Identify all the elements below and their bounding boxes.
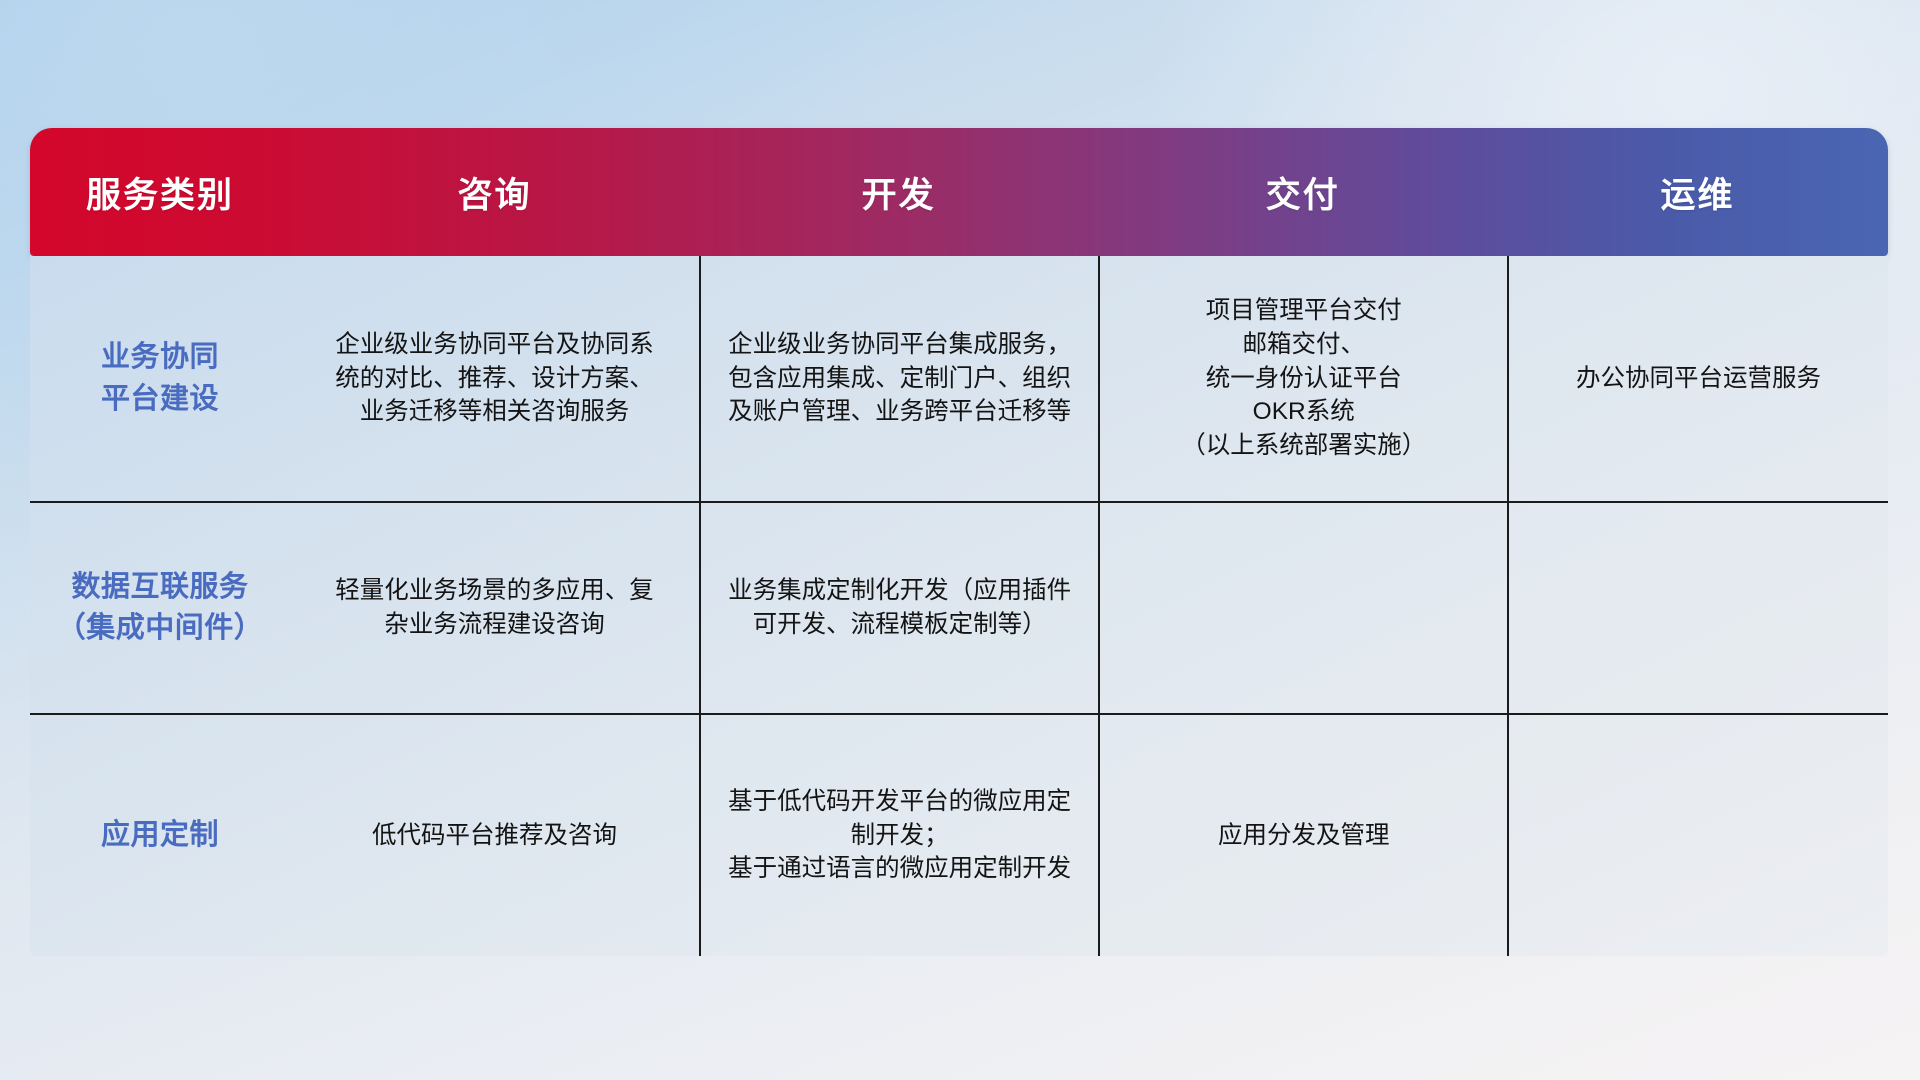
cell-consulting: 企业级业务协同平台及协同系 统的对比、推荐、设计方案、 业务迁移等相关咨询服务 [290,256,699,501]
cell-delivery: 项目管理平台交付 邮箱交付、 统一身份认证平台 OKR系统 （以上系统部署实施） [1098,256,1507,501]
row-category-label: 应用定制 [30,715,290,956]
header-service-category: 服务类别 [30,128,290,256]
table-row: 数据互联服务 （集成中间件） 轻量化业务场景的多应用、复 杂业务流程建设咨询 业… [30,501,1888,713]
slide-canvas: 服务类别 咨询 开发 交付 运维 业务协同 平台建设 企业级业务协同平台及协同系… [0,0,1920,1080]
row-category-label: 数据互联服务 （集成中间件） [30,503,290,713]
header-operations: 运维 [1507,128,1888,256]
cell-development: 企业级业务协同平台集成服务， 包含应用集成、定制门户、组织 及账户管理、业务跨平… [699,256,1098,501]
cell-consulting: 低代码平台推荐及咨询 [290,715,699,956]
row-category-label: 业务协同 平台建设 [30,256,290,501]
service-matrix-table: 服务类别 咨询 开发 交付 运维 业务协同 平台建设 企业级业务协同平台及协同系… [30,128,1888,952]
cell-development: 业务集成定制化开发（应用插件 可开发、流程模板定制等） [699,503,1098,713]
cell-delivery [1098,503,1507,713]
table-body: 业务协同 平台建设 企业级业务协同平台及协同系 统的对比、推荐、设计方案、 业务… [30,256,1888,956]
header-delivery: 交付 [1098,128,1507,256]
cell-operations [1507,715,1888,956]
table-row: 应用定制 低代码平台推荐及咨询 基于低代码开发平台的微应用定 制开发； 基于通过… [30,713,1888,956]
cell-operations: 办公协同平台运营服务 [1507,256,1888,501]
cell-operations [1507,503,1888,713]
cell-delivery: 应用分发及管理 [1098,715,1507,956]
cell-development: 基于低代码开发平台的微应用定 制开发； 基于通过语言的微应用定制开发 [699,715,1098,956]
cell-consulting: 轻量化业务场景的多应用、复 杂业务流程建设咨询 [290,503,699,713]
table-row: 业务协同 平台建设 企业级业务协同平台及协同系 统的对比、推荐、设计方案、 业务… [30,256,1888,501]
header-development: 开发 [699,128,1098,256]
table-header-row: 服务类别 咨询 开发 交付 运维 [30,128,1888,256]
header-consulting: 咨询 [290,128,699,256]
